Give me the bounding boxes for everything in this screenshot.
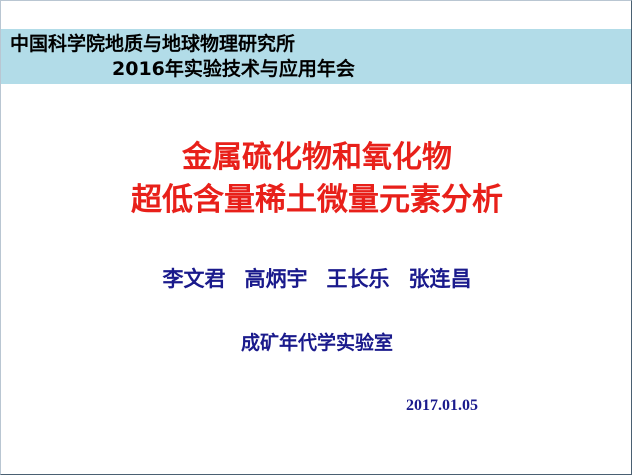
title-line-2: 超低含量稀土微量元素分析 [1,179,632,221]
author-3: 王长乐 [327,266,390,293]
header-banner: 中国科学院地质与地球物理研究所 2016年实验技术与应用年会 [1,29,632,84]
author-2: 高炳宇 [245,266,308,293]
author-4: 张连昌 [409,266,472,293]
author-list: 李文君高炳宇王长乐张连昌 [1,266,632,293]
laboratory-name: 成矿年代学实验室 [1,331,632,356]
presentation-date: 2017.01.05 [406,396,478,416]
author-1: 李文君 [163,266,226,293]
slide-title: 金属硫化物和氧化物 超低含量稀土微量元素分析 [1,137,632,221]
title-line-1: 金属硫化物和氧化物 [1,137,632,179]
institution-name: 中国科学院地质与地球物理研究所 [10,35,295,54]
presentation-title-slide: 中国科学院地质与地球物理研究所 2016年实验技术与应用年会 金属硫化物和氧化物… [0,0,632,475]
conference-name: 2016年实验技术与应用年会 [112,60,355,79]
